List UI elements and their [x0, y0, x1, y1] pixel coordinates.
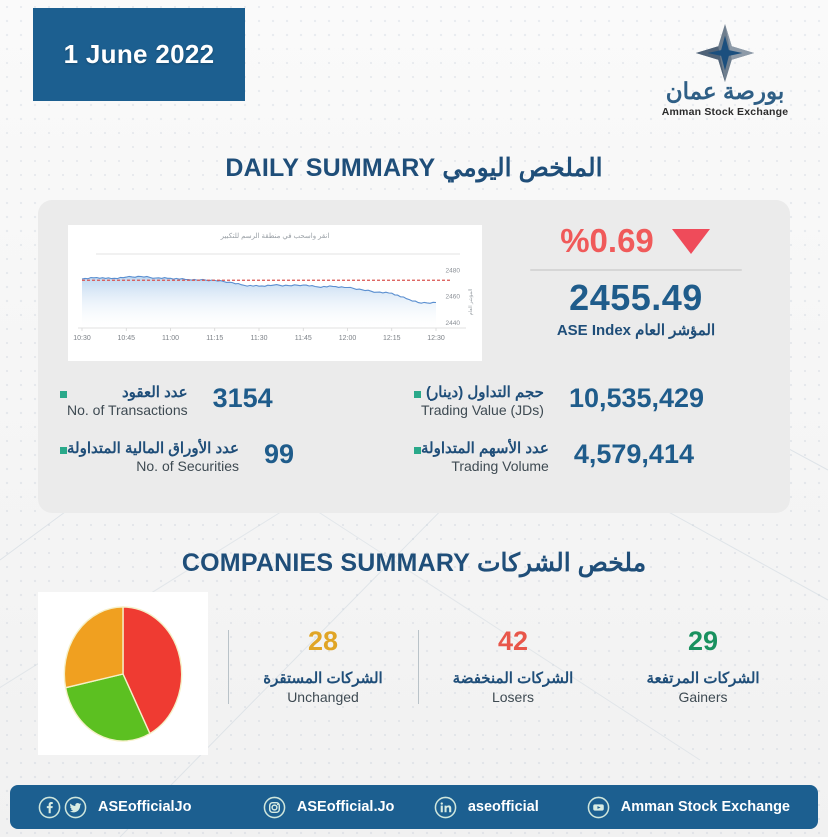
- social-label: aseofficial: [468, 799, 539, 815]
- companies-pie-chart: [53, 600, 193, 748]
- page-title-daily-summary: الملخص اليومي DAILY SUMMARY: [0, 153, 828, 183]
- chart-y-tick: 2480: [446, 267, 461, 274]
- pie-slice-unchanged: [64, 606, 123, 687]
- instagram-icon[interactable]: [263, 796, 286, 819]
- chart-x-tick: 10:45: [117, 335, 135, 342]
- companies-label-english: Gainers: [608, 689, 798, 705]
- social-label: ASEofficial.Jo: [297, 799, 395, 815]
- index-chart-card[interactable]: انقر واسحب في منطقة الرسم للتكبير 10:301…: [68, 225, 482, 361]
- twitter-icon[interactable]: [64, 796, 87, 819]
- chart-y-axis-title: المؤشر العام: [468, 289, 474, 316]
- page-title-companies-summary: ملخص الشركات COMPANIES SUMMARY: [0, 548, 828, 578]
- logo-name-arabic: بورصة عمان: [666, 80, 785, 103]
- stat-trading-value: 10,535,429 حجم التداول (دينار) Trading V…: [414, 385, 768, 419]
- index-label: المؤشر العام ASE Index: [512, 321, 760, 339]
- companies-pie-card: [38, 592, 208, 755]
- companies-label-arabic: الشركات المستقرة: [228, 669, 418, 687]
- ase-index-intraday-chart[interactable]: 10:3010:4511:0011:1511:3011:4512:0012:15…: [68, 240, 482, 352]
- stat-value: 10,535,429: [569, 385, 704, 412]
- companies-gainers: 29 الشركات المرتفعة Gainers: [608, 628, 798, 705]
- chart-y-tick: 2440: [446, 320, 461, 327]
- linkedin-icon[interactable]: [434, 796, 457, 819]
- ase-logo: بورصة عمان Amman Stock Exchange: [650, 22, 800, 118]
- companies-label-english: Losers: [418, 689, 608, 705]
- social-facebook-twitter[interactable]: ASEofficialJo: [38, 796, 263, 819]
- facebook-icon[interactable]: [38, 796, 61, 819]
- bullet-icon: [60, 391, 67, 398]
- stat-label-arabic: عدد الأوراق المالية المتداولة: [67, 441, 239, 457]
- statistics-grid: 3154 عدد العقود No. of Transactions 10,5…: [60, 385, 768, 476]
- index-value: 2455.49: [512, 277, 760, 319]
- stat-label-arabic: عدد الأسهم المتداولة: [421, 441, 549, 457]
- companies-label-arabic: الشركات المنخفضة: [418, 669, 608, 687]
- companies-unchanged: 28 الشركات المستقرة Unchanged: [228, 628, 418, 705]
- chart-x-tick: 11:15: [206, 335, 223, 342]
- companies-label-english: Unchanged: [228, 689, 418, 705]
- companies-losers: 42 الشركات المنخفضة Losers: [418, 628, 608, 705]
- date-badge: 1 June 2022: [33, 8, 245, 101]
- bullet-icon: [414, 391, 421, 398]
- social-youtube[interactable]: Amman Stock Exchange: [587, 796, 790, 819]
- index-divider: [530, 269, 742, 271]
- stat-label-arabic: عدد العقود: [67, 385, 188, 401]
- chart-zoom-hint: انقر واسحب في منطقة الرسم للتكبير: [68, 225, 482, 240]
- youtube-icon[interactable]: [587, 796, 610, 819]
- index-change-percent: %0.69: [560, 222, 654, 260]
- footer-social-bar: ASEofficialJo ASEofficial.Jo: [10, 785, 818, 829]
- stat-value: 3154: [213, 385, 273, 412]
- companies-label-arabic: الشركات المرتفعة: [608, 669, 798, 687]
- infographic-page: 1 June 2022 بورصة عمان Amman Stock Excha…: [0, 0, 828, 837]
- social-linkedin[interactable]: aseofficial: [434, 796, 587, 819]
- stat-label-arabic: حجم التداول (دينار): [421, 385, 544, 401]
- stat-label-english: No. of Securities: [67, 458, 239, 476]
- stat-transactions: 3154 عدد العقود No. of Transactions: [60, 385, 414, 419]
- chart-x-tick: 12:30: [427, 335, 445, 342]
- social-instagram[interactable]: ASEofficial.Jo: [263, 796, 434, 819]
- chart-x-tick: 11:00: [162, 335, 179, 342]
- companies-value: 42: [418, 628, 608, 655]
- daily-summary-panel: انقر واسحب في منطقة الرسم للتكبير 10:301…: [38, 200, 790, 513]
- stat-trading-volume: 4,579,414 عدد الأسهم المتداولة Trading V…: [414, 441, 768, 475]
- four-point-star-icon: [694, 22, 756, 84]
- companies-value: 29: [608, 628, 798, 655]
- companies-value: 28: [228, 628, 418, 655]
- bullet-icon: [414, 447, 421, 454]
- bullet-icon: [60, 447, 67, 454]
- index-change-row: %0.69: [512, 222, 760, 260]
- logo-name-english: Amman Stock Exchange: [662, 106, 789, 118]
- chart-x-tick: 11:45: [295, 335, 312, 342]
- stat-label-english: No. of Transactions: [67, 402, 188, 420]
- stat-label-english: Trading Value (JDs): [421, 402, 544, 420]
- companies-stats-row: 29 الشركات المرتفعة Gainers 42 الشركات ا…: [228, 628, 798, 705]
- triangle-down-icon: [670, 226, 712, 256]
- social-label: Amman Stock Exchange: [621, 799, 790, 815]
- stat-securities: 99 عدد الأوراق المالية المتداولة No. of …: [60, 441, 414, 475]
- chart-y-tick: 2460: [446, 294, 461, 301]
- divider: [418, 630, 419, 704]
- chart-x-tick: 12:00: [339, 335, 357, 342]
- chart-x-tick: 10:30: [73, 335, 91, 342]
- stat-value: 99: [264, 441, 294, 468]
- chart-x-tick: 11:30: [251, 335, 268, 342]
- stat-label-english: Trading Volume: [421, 458, 549, 476]
- social-label: ASEofficialJo: [98, 799, 191, 815]
- ase-index-block: %0.69 2455.49 المؤشر العام ASE Index: [512, 222, 760, 339]
- date-text: 1 June 2022: [64, 39, 215, 70]
- stat-value: 4,579,414: [574, 441, 694, 468]
- chart-x-tick: 12:15: [383, 335, 401, 342]
- divider: [228, 630, 229, 704]
